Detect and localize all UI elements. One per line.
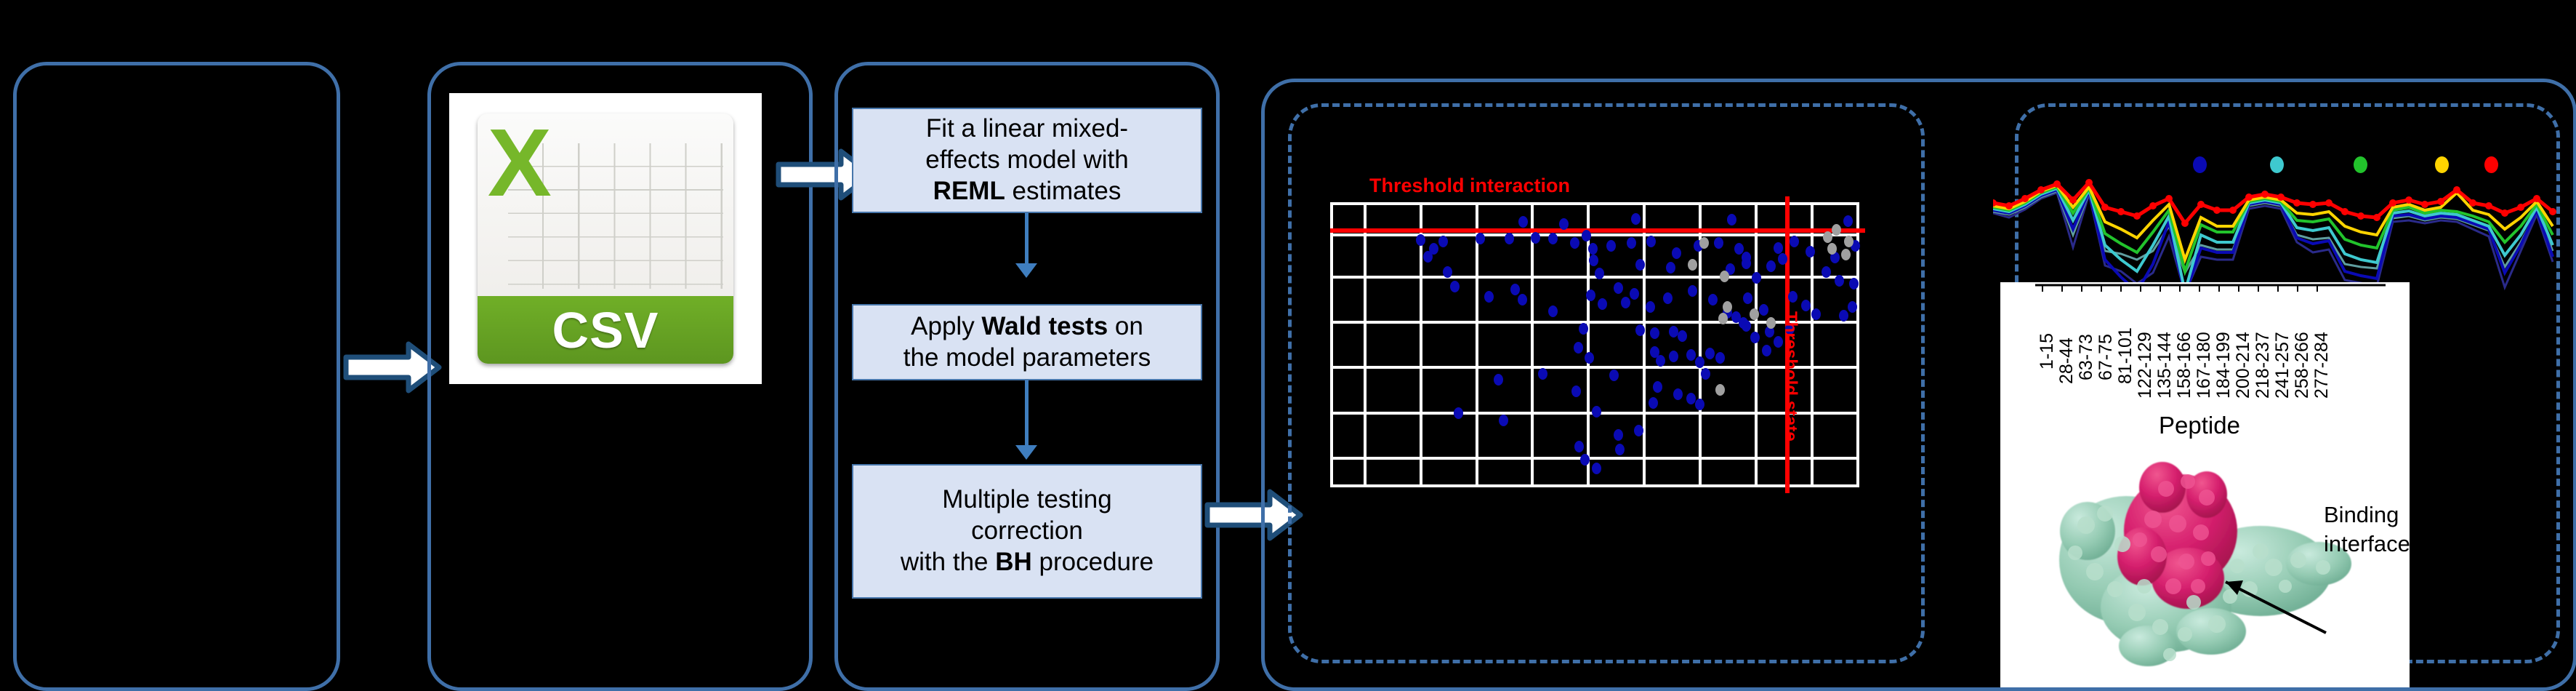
data-point [1416,234,1425,246]
wald-test-step-text: Apply Wald tests on the model parameters [903,311,1151,373]
data-point [1614,429,1623,441]
peptide-tick-label: 135-144 [2154,332,2175,399]
csv-label: CSV [552,301,659,359]
data-point [1686,393,1696,404]
multiple-testing-step-box: Multiple testing correction with the BH … [852,464,1202,599]
data-point [1585,352,1594,364]
data-point [1630,288,1639,300]
connector-2 [1025,380,1029,450]
data-point [1571,386,1581,397]
gridline [1330,202,1333,487]
data-point [1766,260,1776,272]
gridline [1330,202,1859,205]
line-chart-svg [1993,178,2567,298]
data-point [1570,237,1579,249]
data-point [1499,415,1508,426]
data-point [1774,242,1783,254]
structure-svg [2042,444,2355,669]
data-point-ns [1832,224,1841,236]
data-point [1742,320,1751,332]
peptide-tick-label: 277-284 [2311,332,2333,399]
csv-badge: X CSV [478,113,734,364]
structure-figure-white-box: 1-15 28-44 63-73 67-75 81-101 122-129 13… [2000,282,2410,687]
excel-x-icon: X [488,124,580,236]
data-point [1531,232,1540,244]
data-point [1589,255,1598,266]
data-point [1686,349,1696,361]
legend-dot-5 [2484,156,2498,173]
gridline [1330,233,1859,236]
binding-interface-label-line2: interface [2324,530,2410,559]
gridline [1364,202,1367,487]
peptide-tick-label: 200-214 [2233,332,2254,399]
data-point [1806,246,1815,257]
data-point [1631,213,1641,225]
data-point [1653,381,1662,393]
gridline [1330,457,1859,460]
gridline [1330,484,1859,487]
data-point [1582,230,1591,241]
csv-band: CSV [478,296,734,364]
data-point [1762,345,1771,356]
data-point [1649,397,1658,409]
y-axis-zero-tick: 0.0 [1968,273,1997,296]
fit-model-step-box: Fit a linear mixed- effects model with R… [852,108,1202,213]
data-point-ns [1715,384,1725,396]
peptide-tick-label: 122-129 [2135,332,2156,399]
data-point [1672,247,1681,259]
legend-dot-2 [2270,156,2284,173]
data-point [1621,297,1630,308]
protein-structure-image [2042,444,2355,669]
peptide-tick-label: 184-199 [2213,332,2234,399]
chart-legend [2152,149,2529,178]
data-point [1574,342,1583,354]
data-point [1443,266,1452,278]
data-point [1595,268,1604,279]
gridline [1476,202,1478,487]
data-point [1627,237,1636,249]
data-point [1715,352,1725,364]
data-point [1614,282,1623,294]
data-point [1548,305,1558,317]
peptide-tick-label: 67-75 [2096,334,2117,380]
data-point [1476,233,1485,244]
data-point [1848,301,1857,313]
data-point-ns [1688,259,1697,271]
peptide-axis-title: Peptide [2159,412,2240,439]
data-point [1811,308,1821,320]
scatter-plot-title: Threshold interaction [1369,175,1570,197]
data-point [1663,292,1673,304]
peptide-tick-label: 218-237 [2253,332,2274,399]
data-point [1518,216,1528,228]
data-point [1788,291,1798,303]
multiple-testing-step-text: Multiple testing correction with the BH … [901,484,1154,578]
data-point [1650,327,1659,339]
data-point [1714,237,1723,249]
data-point [1574,441,1584,452]
connector-2-arrowhead [1015,445,1037,460]
data-point [1752,272,1761,284]
gridline [1531,202,1534,487]
data-point [1646,236,1656,247]
data-point-ns [1720,271,1729,282]
data-point [1592,406,1601,418]
data-point [1790,236,1799,247]
wald-test-step-box: Apply Wald tests on the model parameters [852,304,1202,380]
data-point-ns [1844,236,1853,247]
data-point [1538,368,1547,380]
data-point [1688,285,1697,297]
data-point [1510,284,1520,295]
data-point [1669,351,1678,362]
data-point-ns [1827,243,1837,255]
data-point [1580,454,1590,466]
data-point [1701,368,1710,380]
data-point [1646,301,1655,313]
data-point [1705,348,1715,359]
data-point-ns [1766,317,1776,329]
data-point-ns [1750,308,1759,320]
peptide-tick-label: 63-73 [2076,334,2097,380]
data-point [1849,278,1859,289]
legend-dot-1 [2193,156,2207,173]
data-point-ns [1841,249,1851,260]
data-point [1695,399,1704,410]
data-point [1634,425,1643,436]
peptide-tick-label: 1-15 [2037,333,2058,370]
data-point [1801,300,1811,311]
data-point [1484,291,1494,303]
data-point [1666,262,1675,273]
data-point [1778,253,1787,265]
peptide-tick-label: 158-166 [2174,332,2195,399]
data-point [1598,298,1607,310]
peptide-axis-line [2000,282,2410,301]
data-point [1505,233,1514,244]
data-point [1695,356,1704,368]
data-point [1727,214,1736,225]
peptide-tick-label: 81-101 [2115,327,2136,384]
data-point [1615,444,1625,455]
connector-1 [1025,213,1029,268]
data-point [1548,233,1558,244]
gridline [1643,202,1646,487]
data-point [1743,292,1752,304]
data-point [1822,266,1831,278]
data-point [1843,215,1853,227]
input-panel [13,62,340,691]
data-point [1678,330,1687,342]
legend-dot-3 [2354,156,2367,173]
legend-dot-4 [2435,156,2449,173]
data-point [1673,388,1683,400]
data-point [1635,259,1645,271]
data-point-ns [1823,231,1832,243]
peptide-tick-label: 28-44 [2056,337,2077,384]
data-point-ns [1699,237,1709,249]
data-point [1494,374,1503,386]
connector-1-arrowhead [1015,263,1037,278]
gridline [1755,202,1758,487]
data-point [1742,257,1751,269]
peptide-tick-label: 258-266 [2292,332,2313,399]
binding-interface-label: Binding interface [2324,500,2410,558]
data-point [1839,310,1848,321]
data-point [1586,289,1595,301]
data-point [1606,240,1616,252]
data-point [1759,304,1768,316]
peptide-tick-label: 241-257 [2272,332,2293,399]
data-point [1423,251,1433,263]
peptide-tick-label: 167-180 [2194,332,2215,399]
data-point [1635,324,1645,336]
csv-file-icon: X CSV [449,93,762,384]
data-point [1750,332,1760,343]
data-point [1708,294,1718,305]
binding-interface-label-line1: Binding [2324,500,2410,530]
data-point [1450,281,1460,292]
data-point [1609,370,1619,381]
data-point [1835,275,1844,287]
threshold-state-label: Threshold state [1780,311,1800,442]
data-point [1656,355,1665,367]
peptide-line-chart [1993,178,2567,298]
data-point [1454,407,1463,419]
data-point [1518,294,1527,305]
data-point [1592,463,1601,474]
data-point [1559,218,1569,230]
data-point-ns [1718,313,1728,324]
gridline [1811,202,1814,487]
data-point [1579,323,1588,335]
fit-model-step-text: Fit a linear mixed- effects model with R… [925,113,1129,207]
data-point [1438,236,1448,247]
data-point-ns [1723,301,1732,313]
data-point [1588,243,1598,255]
